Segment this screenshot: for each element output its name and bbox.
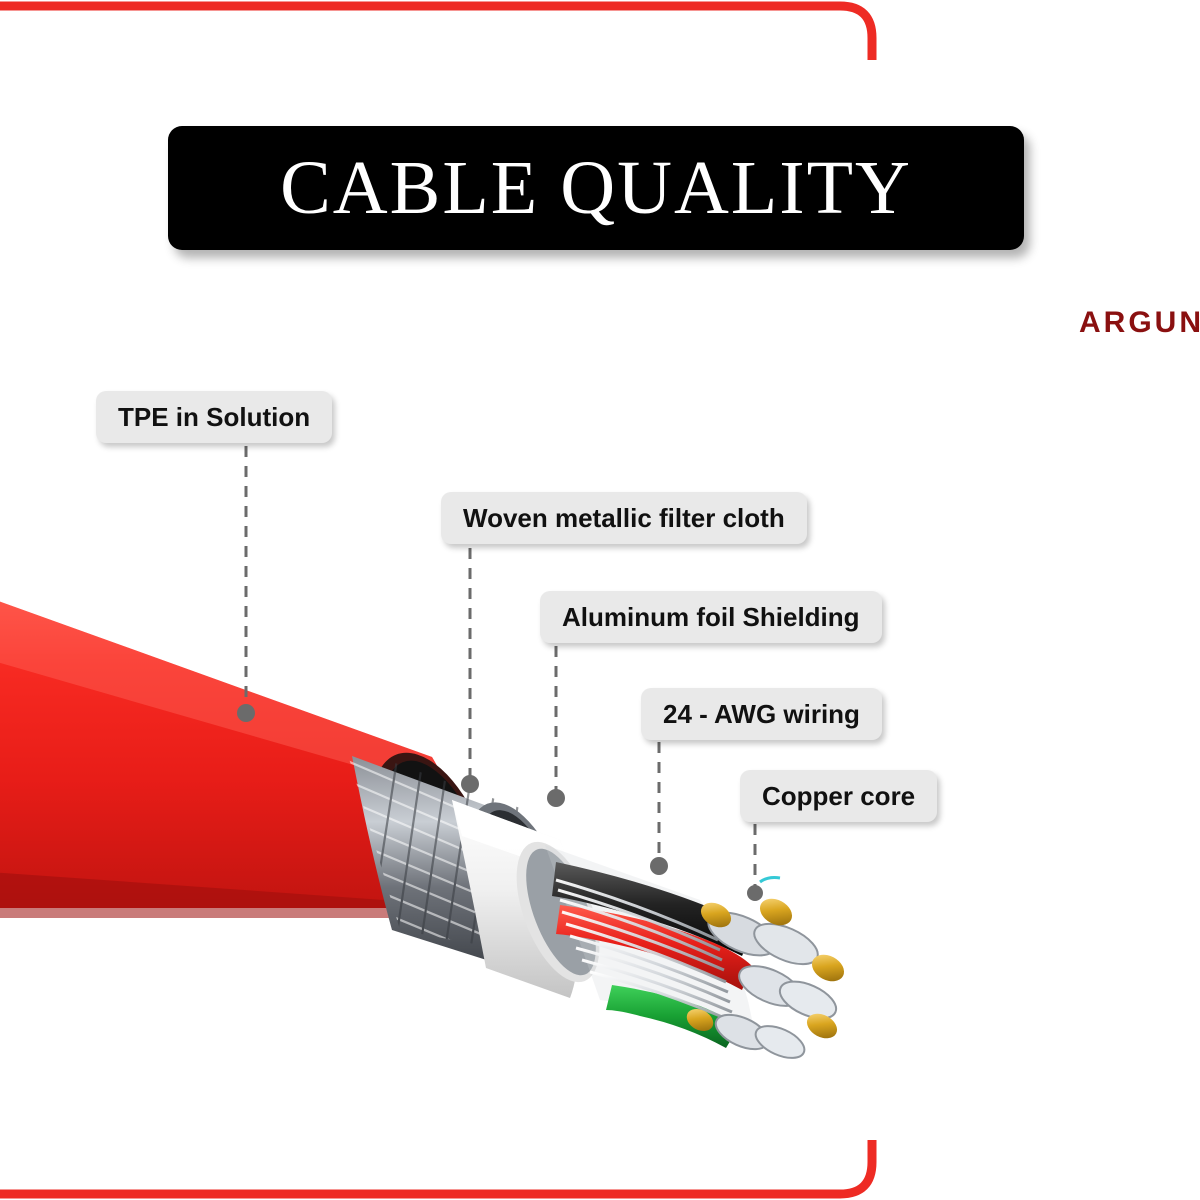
callout-label-awg-wiring: 24 - AWG wiring xyxy=(641,688,882,740)
brand-wordmark: ARGUN xyxy=(1079,306,1200,340)
callout-label-tpe-in-solution: TPE in Solution xyxy=(96,391,332,443)
product-infographic: CABLE QUALITY ARGUN TPE in Solution Wove… xyxy=(0,0,1200,1200)
callout-label-woven-metallic-filter-cloth: Woven metallic filter cloth xyxy=(441,492,807,544)
page-title: CABLE QUALITY xyxy=(280,150,912,226)
callout-label-aluminum-foil-shielding: Aluminum foil Shielding xyxy=(540,591,882,643)
callout-label-copper-core: Copper core xyxy=(740,770,937,822)
title-plate: CABLE QUALITY xyxy=(168,126,1024,250)
